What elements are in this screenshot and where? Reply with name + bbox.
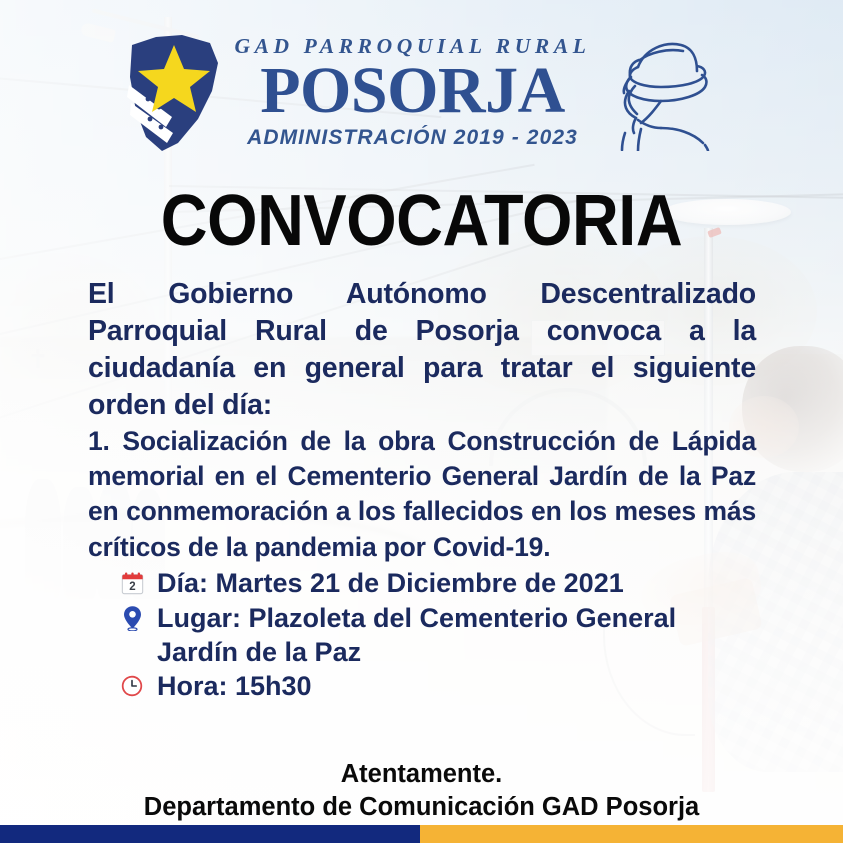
logo-line-posorja: POSORJA bbox=[260, 59, 565, 124]
detail-time-text: Hora: 15h30 bbox=[157, 669, 312, 704]
man-with-hat-icon bbox=[605, 33, 717, 151]
detail-place-continuation: Jardín de la Paz bbox=[118, 636, 758, 670]
detail-row-day: 2 Día: Martes 21 de Diciembre de 2021 bbox=[118, 566, 758, 601]
calendar-day-number: 2 bbox=[129, 580, 135, 592]
agenda-item-1: 1. Socialización de la obra Construcción… bbox=[88, 424, 756, 565]
footer-signature: Atentamente. Departamento de Comunicació… bbox=[0, 758, 843, 823]
bottom-bar-navy-segment bbox=[0, 825, 420, 843]
detail-row-place: Lugar: Plazoleta del Cementerio General bbox=[118, 601, 758, 636]
intro-paragraph: El Gobierno Autónomo Descentralizado Par… bbox=[88, 276, 756, 424]
shield-star-icon bbox=[126, 33, 224, 151]
location-pin-icon bbox=[118, 601, 146, 635]
logo-line-administracion: ADMINISTRACIÓN 2019 - 2023 bbox=[247, 127, 578, 148]
detail-place-text: Lugar: Plazoleta del Cementerio General bbox=[157, 601, 676, 636]
bottom-bar-gold-segment bbox=[420, 825, 843, 843]
calendar-icon: 2 bbox=[118, 566, 146, 600]
gad-posorja-logo: GAD PARROQUIAL RURAL POSORJA ADMINISTRAC… bbox=[0, 22, 843, 162]
detail-day-text: Día: Martes 21 de Diciembre de 2021 bbox=[157, 566, 624, 601]
footer-line-departamento: Departamento de Comunicación GAD Posorja bbox=[0, 791, 843, 824]
poster-content: GAD PARROQUIAL RURAL POSORJA ADMINISTRAC… bbox=[0, 0, 843, 843]
page-title: CONVOCATORIA bbox=[42, 180, 801, 262]
logo-wordmark: GAD PARROQUIAL RURAL POSORJA ADMINISTRAC… bbox=[234, 36, 590, 148]
bottom-accent-bar bbox=[0, 825, 843, 843]
poster-canvas: ✝ bbox=[0, 0, 843, 843]
footer-line-atentamente: Atentamente. bbox=[0, 758, 843, 791]
clock-icon bbox=[118, 669, 146, 703]
detail-row-time: Hora: 15h30 bbox=[118, 669, 758, 704]
event-details: 2 Día: Martes 21 de Diciembre de 2021 Lu… bbox=[118, 566, 758, 704]
